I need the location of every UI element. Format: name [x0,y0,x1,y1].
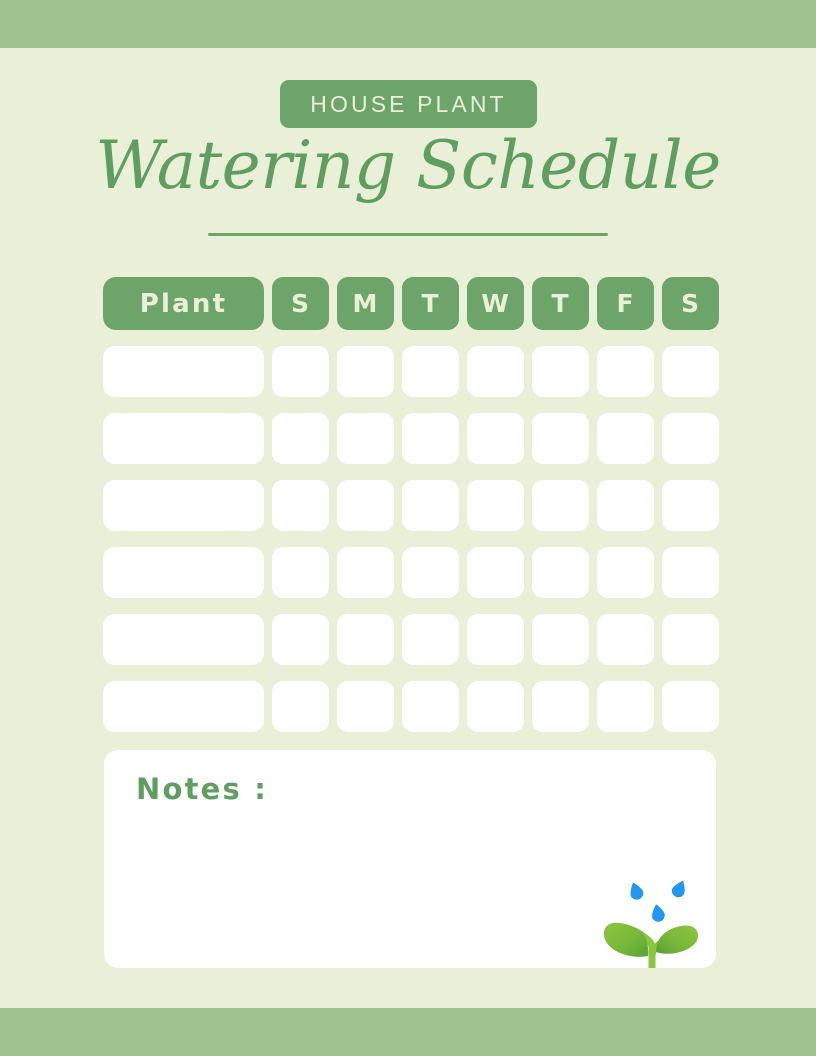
table-row [103,681,716,732]
title-underline-divider [208,233,608,236]
day-check-cell-sat[interactable] [662,681,719,732]
day-check-cell-tue[interactable] [402,346,459,397]
watering-schedule-table: PlantSMTWTFS [103,277,716,732]
table-header-label-plant: Plant [140,289,227,319]
notes-label: Notes : [136,772,268,806]
table-row [103,547,716,598]
table-header-label-sun: S [291,289,310,318]
day-check-cell-mon[interactable] [337,681,394,732]
day-check-cell-thu[interactable] [532,681,589,732]
day-check-cell-tue[interactable] [402,547,459,598]
table-header-cell-mon: M [337,277,394,330]
day-check-cell-sat[interactable] [662,614,719,665]
table-row [103,614,716,665]
plant-name-input-cell[interactable] [103,681,264,732]
category-badge: HOUSE PLANT [280,80,537,128]
day-check-cell-fri[interactable] [597,547,654,598]
day-check-cell-sun[interactable] [272,547,329,598]
day-check-cell-mon[interactable] [337,413,394,464]
category-badge-label: HOUSE PLANT [310,91,506,118]
day-check-cell-sun[interactable] [272,413,329,464]
day-check-cell-sat[interactable] [662,547,719,598]
bottom-decorative-bar [0,1008,816,1056]
day-check-cell-sat[interactable] [662,413,719,464]
table-header-label-tue: T [421,289,439,318]
day-check-cell-sat[interactable] [662,346,719,397]
table-header-label-thu: T [551,289,569,318]
table-header-label-sat: S [681,289,700,318]
day-check-cell-mon[interactable] [337,547,394,598]
day-check-cell-fri[interactable] [597,413,654,464]
table-header-cell-wed: W [467,277,524,330]
day-check-cell-fri[interactable] [597,614,654,665]
day-check-cell-wed[interactable] [467,346,524,397]
day-check-cell-tue[interactable] [402,614,459,665]
day-check-cell-wed[interactable] [467,614,524,665]
day-check-cell-thu[interactable] [532,547,589,598]
table-header-cell-sun: S [272,277,329,330]
day-check-cell-wed[interactable] [467,413,524,464]
plant-name-input-cell[interactable] [103,413,264,464]
day-check-cell-thu[interactable] [532,413,589,464]
plant-name-input-cell[interactable] [103,547,264,598]
day-check-cell-sat[interactable] [662,480,719,531]
plant-name-input-cell[interactable] [103,614,264,665]
day-check-cell-wed[interactable] [467,547,524,598]
table-header-cell-thu: T [532,277,589,330]
day-check-cell-fri[interactable] [597,346,654,397]
day-check-cell-tue[interactable] [402,681,459,732]
day-check-cell-sun[interactable] [272,346,329,397]
table-header-label-fri: F [616,289,634,318]
day-check-cell-fri[interactable] [597,480,654,531]
day-check-cell-wed[interactable] [467,681,524,732]
day-check-cell-sun[interactable] [272,614,329,665]
day-check-cell-sun[interactable] [272,681,329,732]
table-header-cell-fri: F [597,277,654,330]
table-header-cell-tue: T [402,277,459,330]
day-check-cell-mon[interactable] [337,614,394,665]
day-check-cell-sun[interactable] [272,480,329,531]
table-row [103,413,716,464]
day-check-cell-fri[interactable] [597,681,654,732]
day-check-cell-thu[interactable] [532,480,589,531]
table-header-row: PlantSMTWTFS [103,277,716,330]
notes-panel[interactable]: Notes : [104,750,716,968]
day-check-cell-thu[interactable] [532,614,589,665]
worksheet-page: HOUSE PLANT Watering Schedule PlantSMTWT… [0,0,816,1056]
table-header-label-wed: W [481,289,510,318]
plant-name-input-cell[interactable] [103,480,264,531]
plant-name-input-cell[interactable] [103,346,264,397]
day-check-cell-wed[interactable] [467,480,524,531]
page-title: Watering Schedule [0,133,816,199]
table-header-label-mon: M [353,289,379,318]
top-decorative-bar [0,0,816,48]
day-check-cell-mon[interactable] [337,346,394,397]
seedling-with-water-drops-icon [592,860,712,968]
day-check-cell-thu[interactable] [532,346,589,397]
table-row [103,480,716,531]
day-check-cell-tue[interactable] [402,480,459,531]
day-check-cell-tue[interactable] [402,413,459,464]
table-header-cell-sat: S [662,277,719,330]
table-row [103,346,716,397]
table-header-cell-plant: Plant [103,277,264,330]
day-check-cell-mon[interactable] [337,480,394,531]
